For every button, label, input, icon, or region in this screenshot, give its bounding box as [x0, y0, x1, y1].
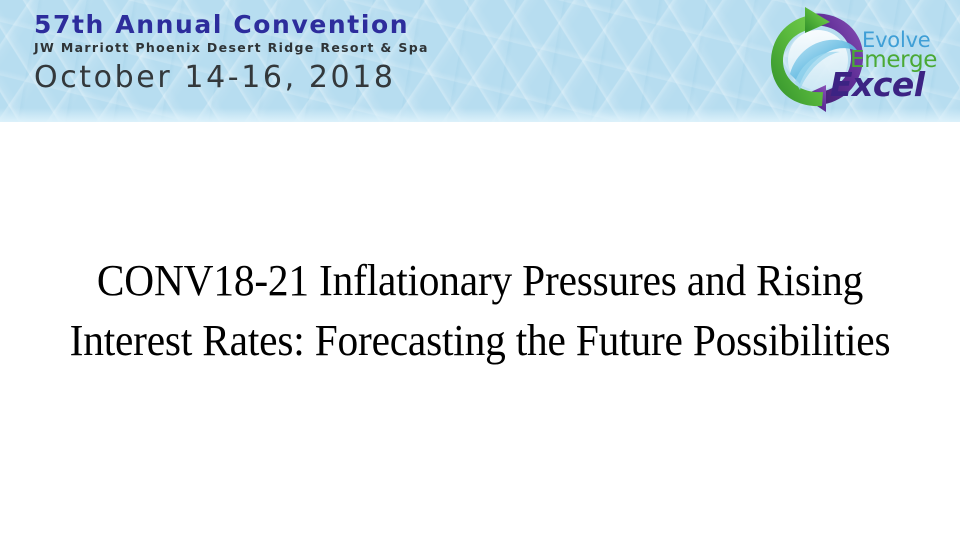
convention-title: 57th Annual Convention	[34, 10, 504, 39]
logo-word-excel: Excel	[830, 68, 960, 101]
slide-title: CONV18-21 Inflationary Pressures and Ris…	[66, 251, 893, 371]
convention-dates: October 14-16, 2018	[34, 59, 504, 97]
event-info-block: 57th Annual Convention JW Marriott Phoen…	[34, 10, 504, 97]
convention-banner: 57th Annual Convention JW Marriott Phoen…	[0, 0, 960, 122]
evolve-emerge-excel-logo: Evolve Emerge Excel	[762, 2, 958, 120]
logo-wordmark: Evolve Emerge Excel	[848, 30, 960, 101]
convention-venue: JW Marriott Phoenix Desert Ridge Resort …	[34, 39, 504, 56]
presentation-slide: 57th Annual Convention JW Marriott Phoen…	[0, 0, 960, 540]
